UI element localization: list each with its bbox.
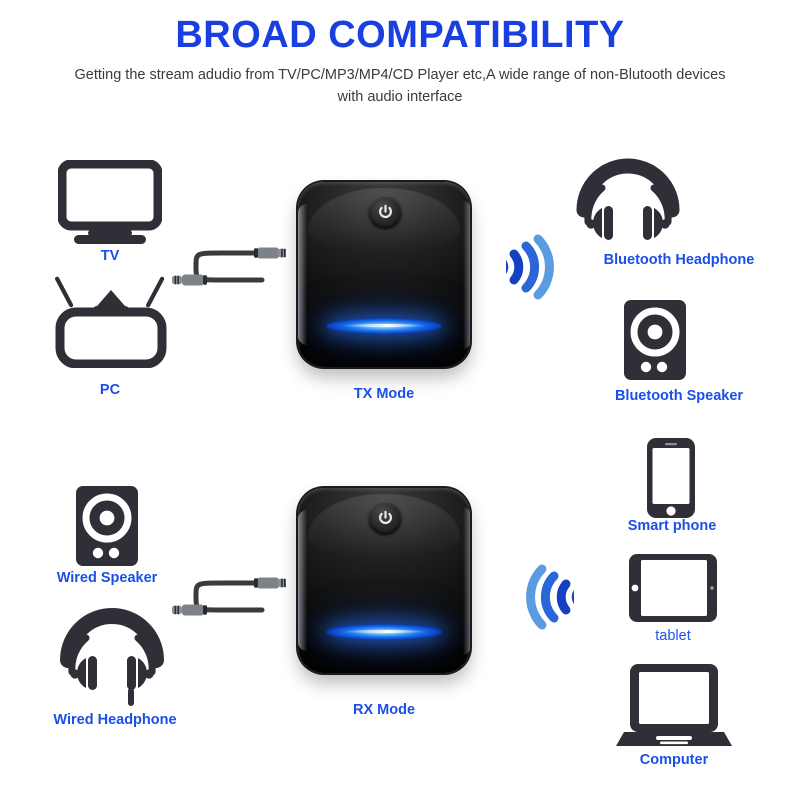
led-core [342, 324, 426, 327]
tablet-icon [627, 552, 719, 624]
page-title: BROAD COMPATIBILITY [0, 16, 800, 56]
laptop-icon [616, 662, 732, 748]
mode-label-rx: RX Mode [304, 702, 464, 718]
tv-icon [58, 160, 162, 246]
retro-tv-icon [55, 268, 167, 368]
wifi-waves-icon [508, 562, 578, 632]
target-label-bt-headphone: Bluetooth Headphone [556, 252, 800, 268]
bluetooth-adapter-tx[interactable] [298, 182, 470, 367]
target-label-computer: Computer [612, 752, 736, 768]
smartphone-icon [645, 436, 697, 520]
speaker-icon [74, 484, 140, 568]
power-button[interactable] [368, 501, 402, 535]
aux-cable-icon [158, 236, 286, 308]
target-label-tablet: tablet [625, 628, 721, 644]
aux-cable-icon [158, 566, 286, 638]
speaker-icon [622, 298, 688, 382]
target-label-smartphone: Smart phone [596, 518, 748, 534]
target-label-bt-speaker: Bluetooth Speaker [570, 388, 788, 404]
page-subtitle: Getting the stream adudio from TV/PC/MP3… [60, 64, 740, 109]
power-button[interactable] [368, 195, 402, 229]
mode-label-tx: TX Mode [304, 386, 464, 402]
infographic-page: BROAD COMPATIBILITY Getting the stream a… [0, 0, 800, 800]
bluetooth-adapter-rx[interactable] [298, 488, 470, 673]
headset-icon [56, 598, 168, 706]
source-label-wired-headphone: Wired Headphone [14, 712, 216, 728]
headphone-icon [572, 148, 684, 240]
source-label-tv: TV [60, 248, 160, 264]
source-label-pc: PC [60, 382, 160, 398]
led-core [342, 630, 426, 633]
